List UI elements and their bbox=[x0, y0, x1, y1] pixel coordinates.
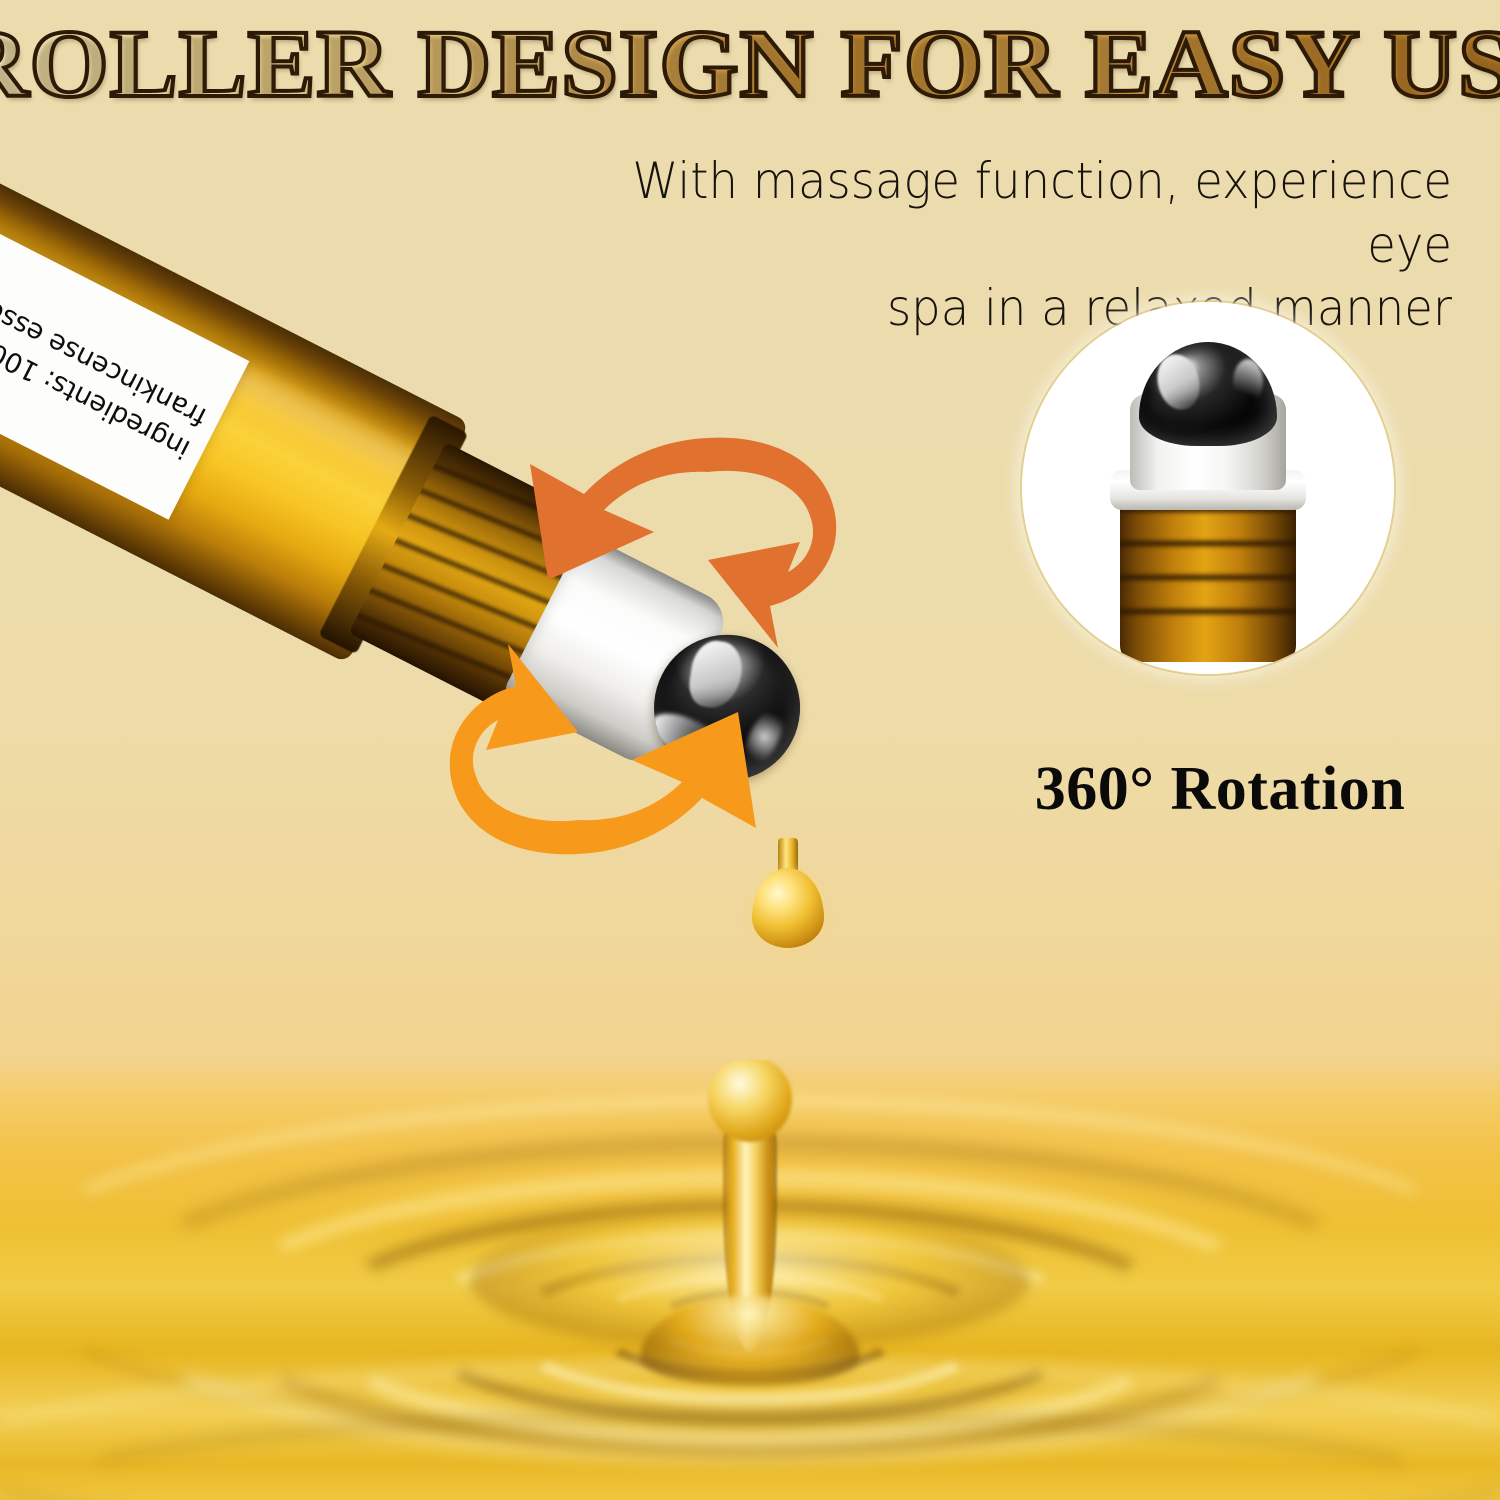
droplet-bulb bbox=[752, 868, 824, 948]
subtitle-line-1: With massage function, experience eye bbox=[559, 150, 1452, 277]
splash-column bbox=[723, 1102, 777, 1352]
ball-highlight bbox=[737, 702, 792, 772]
thread-groove bbox=[1120, 538, 1296, 549]
ball-highlight bbox=[686, 637, 746, 711]
thread-groove bbox=[1120, 606, 1296, 617]
product-feature-poster: ROLLER DESIGN FOR EASY USE With massage … bbox=[0, 0, 1500, 1500]
inset-bottle-neck bbox=[1120, 492, 1296, 662]
roller-closeup-inset bbox=[1022, 302, 1394, 674]
oil-droplet bbox=[752, 838, 824, 950]
page-title: ROLLER DESIGN FOR EASY USE bbox=[0, 14, 1500, 115]
rotation-caption: 360° Rotation bbox=[1000, 754, 1440, 825]
thread-groove bbox=[1120, 572, 1296, 583]
ball-highlight bbox=[1233, 359, 1263, 405]
